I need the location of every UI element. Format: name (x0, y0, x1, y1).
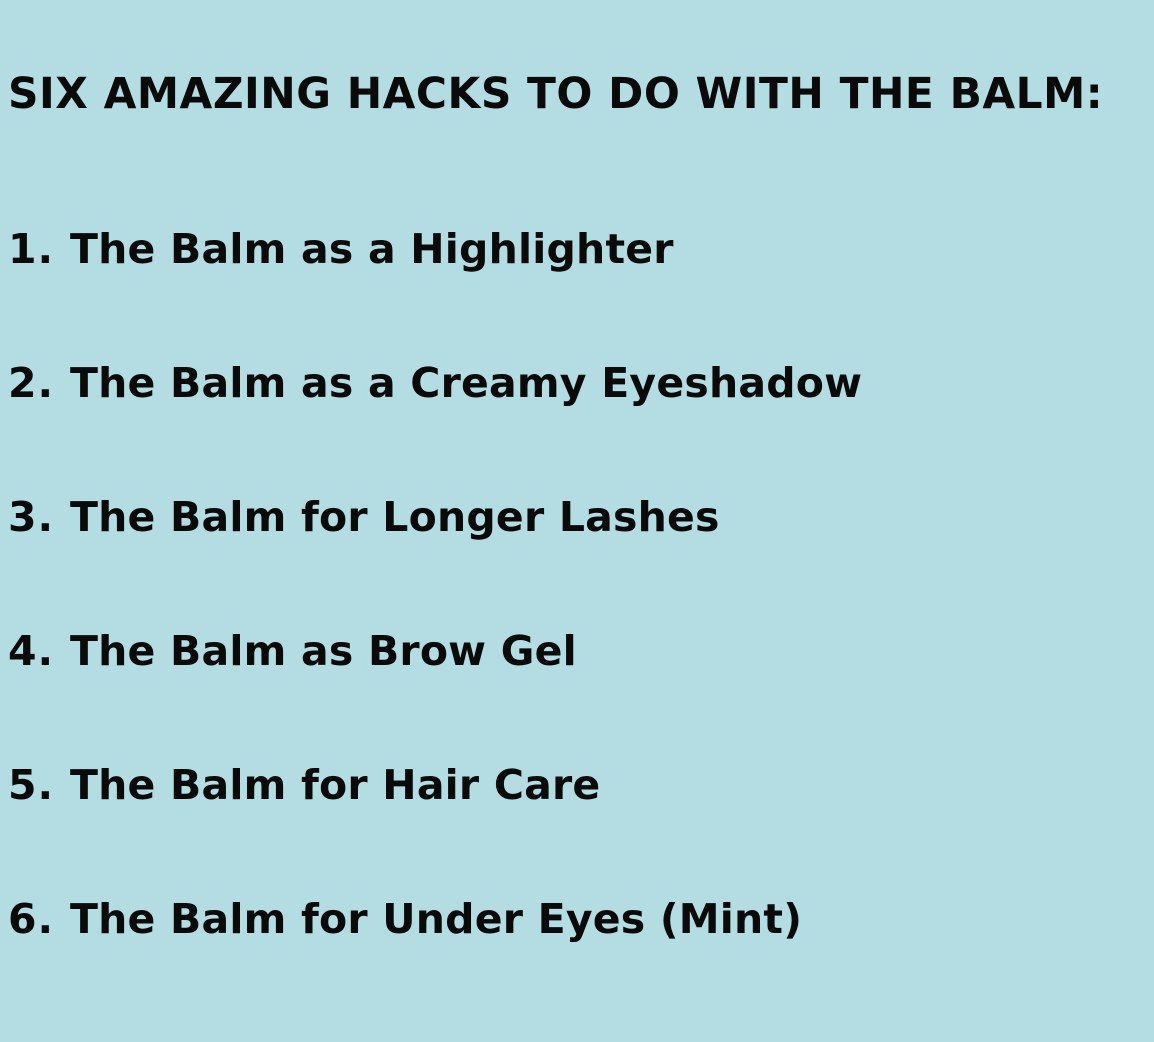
list-item: 5. The Balm for Hair Care (0, 758, 1154, 892)
list-item-label: The Balm as a Highlighter (70, 222, 674, 276)
list-item-number: 5. (8, 758, 70, 812)
page-title: SIX AMAZING HACKS TO DO WITH THE BALM: (8, 67, 1129, 121)
list-item-number: 6. (8, 892, 70, 946)
list-item: 1. The Balm as a Highlighter (0, 222, 1154, 356)
list-item-number: 1. (8, 222, 70, 276)
list-item-label: The Balm for Longer Lashes (70, 490, 720, 544)
list-item-label: The Balm as Brow Gel (70, 624, 577, 678)
page-root: SIX AMAZING HACKS TO DO WITH THE BALM: 1… (0, 0, 1154, 1042)
list-item: 3. The Balm for Longer Lashes (0, 490, 1154, 624)
list-item-label: The Balm for Under Eyes (Mint) (70, 892, 802, 946)
list-item-number: 4. (8, 624, 70, 678)
list-item: 6. The Balm for Under Eyes (Mint) (0, 892, 1154, 1026)
list-item: 2. The Balm as a Creamy Eyeshadow (0, 356, 1154, 490)
list-item: 4. The Balm as Brow Gel (0, 624, 1154, 758)
list-item-label: The Balm for Hair Care (70, 758, 600, 812)
hacks-list: 1. The Balm as a Highlighter 2. The Balm… (0, 222, 1154, 1026)
list-item-number: 2. (8, 356, 70, 410)
list-item-label: The Balm as a Creamy Eyeshadow (70, 356, 862, 410)
list-item-number: 3. (8, 490, 70, 544)
